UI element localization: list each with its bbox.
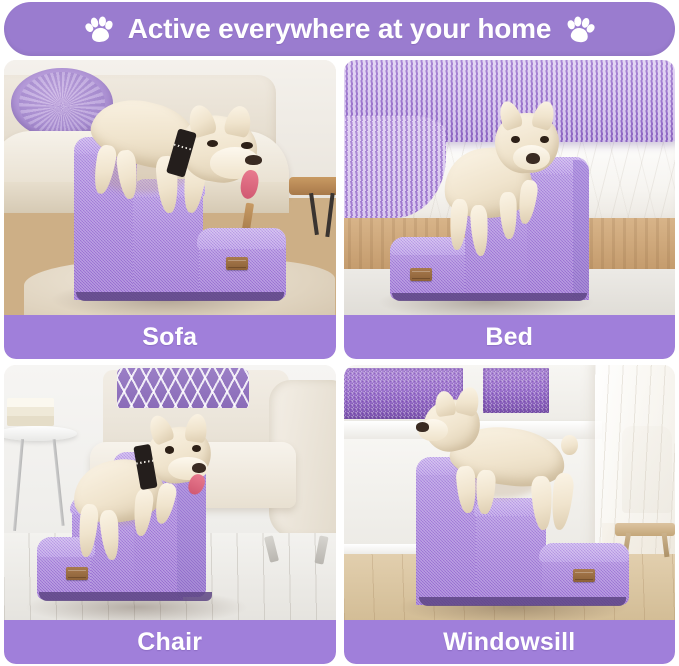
dog-nose xyxy=(192,463,206,473)
scene-panel-windowsill[interactable]: Windowsill xyxy=(344,365,676,664)
dog-leg-rear xyxy=(77,503,100,558)
panel-label-windowsill: Windowsill xyxy=(344,620,676,664)
panel-grid: Sofa xyxy=(4,60,675,664)
stacked-books xyxy=(7,398,53,426)
paw-print-icon xyxy=(82,12,116,46)
dog-ear xyxy=(433,389,457,417)
dog-leg-rear xyxy=(448,198,469,250)
photo-chair xyxy=(4,365,336,620)
panel-label-bed: Bed xyxy=(344,315,676,359)
dog-ear xyxy=(454,385,482,418)
dog-tail xyxy=(561,435,578,456)
panel-label-chair: Chair xyxy=(4,620,336,664)
dog-frenchie xyxy=(436,101,569,259)
scene-panel-sofa[interactable]: Sofa xyxy=(4,60,336,359)
dog-frenchie xyxy=(70,421,222,569)
dog-nose xyxy=(526,153,539,164)
dog-nose xyxy=(416,422,429,431)
paw-print-icon xyxy=(563,12,598,47)
photo-bed xyxy=(344,60,676,315)
dog-frenchie xyxy=(416,391,602,549)
scene-panel-bed[interactable]: Bed xyxy=(344,60,676,359)
panel-label-text: Windowsill xyxy=(443,628,575,657)
panel-label-text: Sofa xyxy=(142,323,197,352)
stairs-base xyxy=(392,293,587,302)
stairs-base xyxy=(39,592,212,601)
dog-leg-rear xyxy=(469,205,489,256)
panel-label-sofa: Sofa xyxy=(4,315,336,359)
dog-leg-rear xyxy=(530,475,553,530)
brand-leather-tag xyxy=(410,268,432,281)
dog-leg-front xyxy=(475,469,496,514)
dog-eye xyxy=(241,142,253,149)
geometric-purple-pillow xyxy=(117,368,250,409)
dog-frenchie xyxy=(84,93,276,236)
photo-sofa xyxy=(4,60,336,315)
stairs-base xyxy=(419,597,627,606)
stairs-side-panel xyxy=(573,160,589,297)
stairs-base xyxy=(76,292,284,302)
panel-label-text: Bed xyxy=(485,323,533,352)
brand-leather-tag xyxy=(226,257,248,270)
dog-leg-front xyxy=(132,488,155,537)
header-banner: Active everywhere at your home xyxy=(4,2,675,56)
dog-leg-front xyxy=(499,192,518,240)
dog-nose xyxy=(245,155,262,165)
photo-windowsill xyxy=(344,365,676,620)
dog-leg-front xyxy=(456,466,478,515)
brand-leather-tag xyxy=(573,569,595,582)
dog-eye xyxy=(165,446,174,453)
panel-label-text: Chair xyxy=(137,628,202,657)
scene-panel-chair[interactable]: Chair xyxy=(4,365,336,664)
page-title: Active everywhere at your home xyxy=(128,13,552,45)
